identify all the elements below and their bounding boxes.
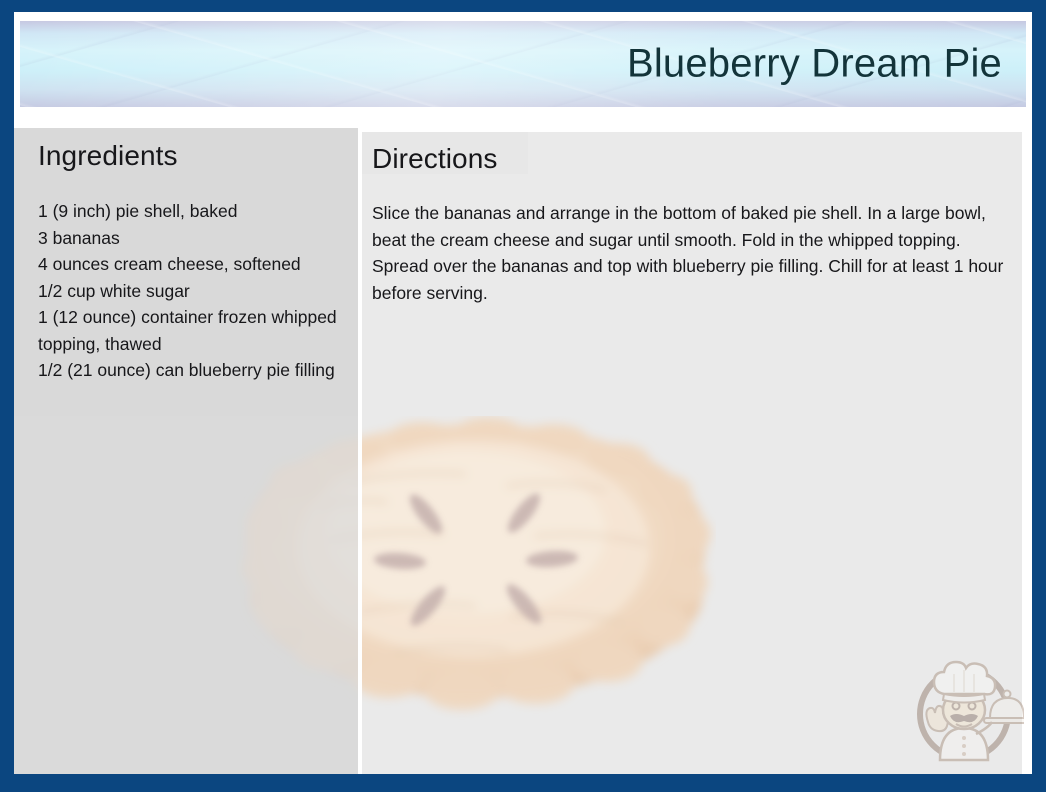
- list-item: 1 (9 inch) pie shell, baked: [38, 198, 348, 225]
- list-item: 3 bananas: [38, 225, 348, 252]
- directions-text: Slice the bananas and arrange in the bot…: [372, 200, 1020, 306]
- page-title: Blueberry Dream Pie: [627, 42, 1002, 87]
- list-item: 1/2 (21 ounce) can blueberry pie filling: [38, 357, 348, 384]
- panel-divider: [358, 128, 362, 774]
- list-item: 1 (12 ounce) container frozen whipped to…: [38, 304, 348, 357]
- recipe-page: Blueberry Dream Pie Ingredients 1 (9 inc…: [14, 12, 1032, 774]
- chef-logo: [904, 648, 1024, 768]
- ingredients-list: 1 (9 inch) pie shell, baked 3 bananas 4 …: [38, 198, 348, 384]
- list-item: 1/2 cup white sugar: [38, 278, 348, 305]
- recipe-card: Blueberry Dream Pie Ingredients 1 (9 inc…: [0, 0, 1046, 792]
- ingredients-heading: Ingredients: [38, 140, 178, 172]
- header-banner: Blueberry Dream Pie: [20, 21, 1026, 107]
- cloche-icon: [984, 691, 1024, 724]
- list-item: 4 ounces cream cheese, softened: [38, 251, 348, 278]
- directions-heading: Directions: [372, 143, 497, 175]
